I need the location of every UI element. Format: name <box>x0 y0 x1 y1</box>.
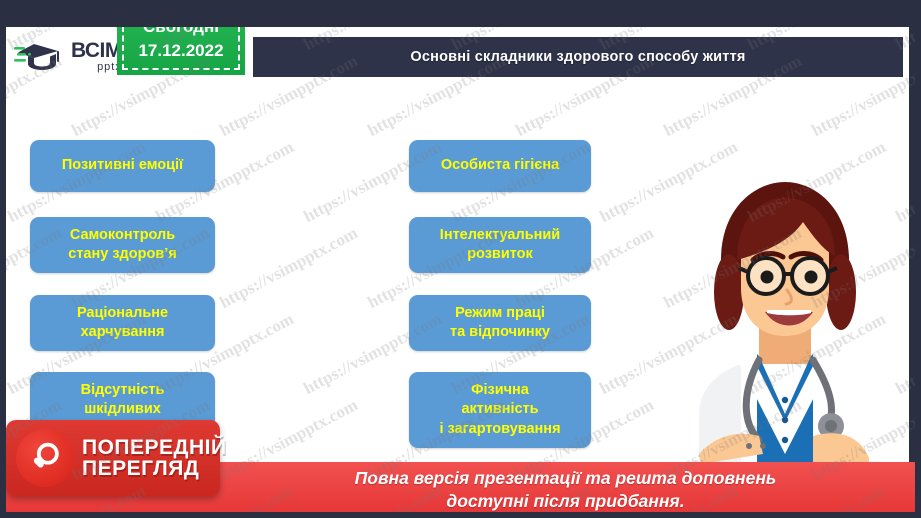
card-line: шкідливих <box>36 400 209 419</box>
magnifier-icon <box>16 429 74 487</box>
brand-logo-sub: pptx <box>71 62 122 73</box>
date-badge: Сьогодні 17.12.2022 <box>117 2 245 75</box>
component-card-positive-emotions[interactable]: Позитивні емоції <box>30 140 215 192</box>
brand-logo-main: ВСІМ <box>71 40 122 61</box>
graduation-cap-icon <box>14 39 66 73</box>
card-line: Самоконтроль <box>36 226 209 245</box>
purchase-notice-line-1: Повна версія презентації та решта доповн… <box>355 467 777 490</box>
component-card-rational-nutrition[interactable]: Раціональне харчування <box>30 295 215 351</box>
component-card-work-rest-schedule[interactable]: Режим праці та відпочинку <box>409 295 591 351</box>
date-badge-value: 17.12.2022 <box>138 40 223 61</box>
date-badge-label: Сьогодні <box>143 16 219 37</box>
page-title: Основні складники здорового способу житт… <box>410 49 745 65</box>
watermark-text: https://vsimpptx.com <box>0 309 1 399</box>
purchase-notice-line-2: доступні після придбання. <box>446 490 684 513</box>
female-doctor-illustration <box>663 164 903 464</box>
preview-badge-line-2: ПЕРЕГЛЯД <box>82 458 227 479</box>
component-card-intellectual-development[interactable]: Інтелектуальний розвиток <box>409 217 591 273</box>
card-line: Особиста гігієна <box>415 156 585 175</box>
card-line: та відпочинку <box>415 323 585 342</box>
card-line: Фізична <box>415 381 585 400</box>
card-line: харчування <box>36 323 209 342</box>
card-line: розвиток <box>415 245 585 264</box>
component-card-personal-hygiene[interactable]: Особиста гігієна <box>409 140 591 192</box>
card-line: Позитивні емоції <box>36 156 209 175</box>
component-card-self-control[interactable]: Самоконтроль стану здоров’я <box>30 217 215 273</box>
card-line: Відсутність <box>36 381 209 400</box>
card-line: Режим праці <box>415 304 585 323</box>
card-line: стану здоров’я <box>36 245 209 264</box>
preview-badge-line-1: ПОПЕРЕДНІЙ <box>82 437 227 458</box>
card-line: Інтелектуальний <box>415 226 585 245</box>
brand-logo-text: ВСІМ pptx <box>71 40 122 73</box>
slide-header-bar: Основні складники здорового способу житт… <box>253 37 903 77</box>
preview-badge-text: ПОПЕРЕДНІЙ ПЕРЕГЛЯД <box>82 437 227 480</box>
preview-badge[interactable]: ПОПЕРЕДНІЙ ПЕРЕГЛЯД <box>6 420 220 496</box>
card-line: і загартовування <box>415 420 585 439</box>
watermark-text: https://vsimpptx.com <box>0 137 1 227</box>
card-line: активність <box>415 400 585 419</box>
component-card-physical-activity[interactable]: Фізична активність і загартовування <box>409 372 591 448</box>
card-line: Раціональне <box>36 304 209 323</box>
slide-preview-stage: ВСІМ pptx Основні складники здорового сп… <box>0 0 921 518</box>
